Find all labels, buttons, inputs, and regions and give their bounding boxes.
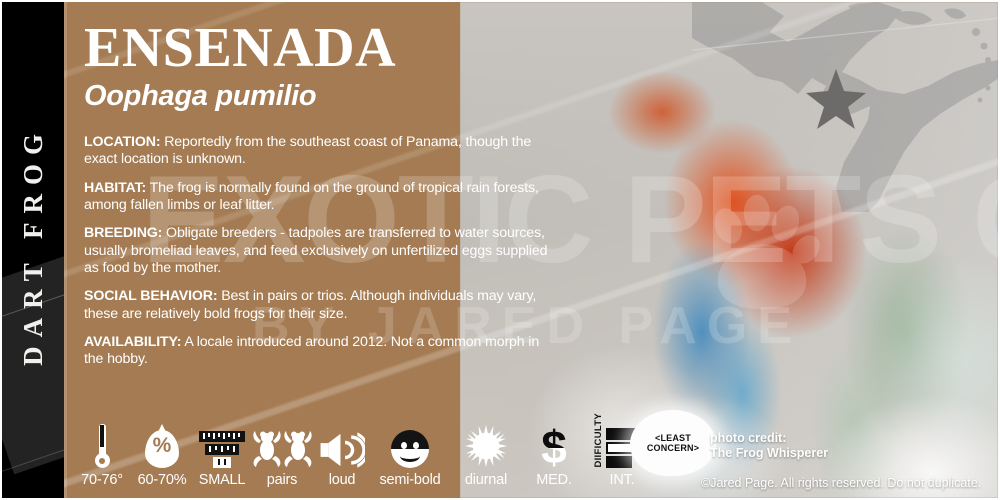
scientific-name: Oophaga pumilio xyxy=(84,80,554,113)
fact-location: LOCATION: Reportedly from the southeast … xyxy=(84,134,554,169)
sidebar-vertical-title-text: DART FROG xyxy=(18,125,49,375)
fact-label: SOCIAL BEHAVIOR: xyxy=(84,288,217,304)
difficulty-vertical-label: DIIFICULTY xyxy=(594,412,604,468)
attribute-temperature: 70-76° xyxy=(72,422,132,488)
attribute-grouping: pairs xyxy=(252,422,312,488)
fact-list: LOCATION: Reportedly from the southeast … xyxy=(84,134,554,368)
badge-line-2: CONCERN> xyxy=(647,443,699,453)
page-title: ENSENADA xyxy=(84,20,554,76)
attribute-boldness: semi-bold xyxy=(372,422,448,488)
attribute-call-volume: loud xyxy=(312,422,372,488)
fact-label: HABITAT: xyxy=(84,180,146,196)
ruler-size-icon xyxy=(199,422,245,468)
dollar-price-icon: $ xyxy=(541,422,567,468)
attribute-size: SMALL xyxy=(192,422,252,488)
attribute-caption: SMALL xyxy=(199,472,246,488)
species-info-card: EXOTIC PETS CORNER BY JARED PAGE DART FR… xyxy=(0,0,1000,500)
speaker-loud-icon xyxy=(319,422,365,468)
fact-social-behavior: SOCIAL BEHAVIOR: Best in pairs or trios.… xyxy=(84,288,554,323)
attribute-activity: diurnal xyxy=(448,422,524,488)
difficulty-bar-3 xyxy=(606,456,632,468)
attribute-humidity: % 60-70% xyxy=(132,422,192,488)
semi-bold-face-icon xyxy=(391,422,429,468)
attribute-caption: MED. xyxy=(536,472,571,488)
attribute-caption: diurnal xyxy=(465,472,507,488)
sidebar: DART FROG xyxy=(2,2,64,498)
attribute-icon-row: 70-76° % 60-70% xyxy=(72,422,660,488)
photo-credit: photo credit: The Frog Whisperer xyxy=(710,431,828,462)
text-content: ENSENADA Oophaga pumilio LOCATION: Repor… xyxy=(84,2,554,379)
percent-symbol: % xyxy=(145,434,179,458)
attribute-caption: loud xyxy=(329,472,356,488)
thermometer-icon xyxy=(95,422,110,468)
sidebar-edge xyxy=(64,2,67,498)
fact-availability: AVAILABILITY: A locale introduced around… xyxy=(84,334,554,369)
badge-line-1: <LEAST xyxy=(655,433,691,443)
fact-text: The frog is normally found on the ground… xyxy=(84,180,539,213)
central-america-map xyxy=(692,2,1000,212)
conservation-status-badge: <LEAST CONCERN> xyxy=(630,410,716,476)
fact-habitat: HABITAT: The frog is normally found on t… xyxy=(84,180,554,215)
attribute-caption: 60-70% xyxy=(138,472,187,488)
photographer-name: The Frog Whisperer xyxy=(710,446,828,462)
attribute-caption: pairs xyxy=(267,472,297,488)
sun-diurnal-icon xyxy=(464,422,508,468)
dollar-symbol: $ xyxy=(541,428,567,468)
humidity-droplet-icon: % xyxy=(145,422,179,468)
sidebar-vertical-title: DART FROG xyxy=(2,2,64,498)
copyright-notice: ©Jared Page. All rights reserved. Do not… xyxy=(701,476,981,490)
fact-breeding: BREEDING: Obligate breeders - tadpoles a… xyxy=(84,225,554,277)
pair-of-frogs-icon xyxy=(252,422,313,468)
fact-label: AVAILABILITY: xyxy=(84,334,181,350)
fact-label: BREEDING: xyxy=(84,225,162,241)
photo-credit-label: photo credit: xyxy=(710,431,828,447)
attribute-caption: 70-76° xyxy=(81,472,123,488)
attribute-caption: INT. xyxy=(610,472,635,488)
attribute-price: $ MED. xyxy=(524,422,584,488)
fact-label: LOCATION: xyxy=(84,134,160,150)
attribute-caption: semi-bold xyxy=(379,472,440,488)
